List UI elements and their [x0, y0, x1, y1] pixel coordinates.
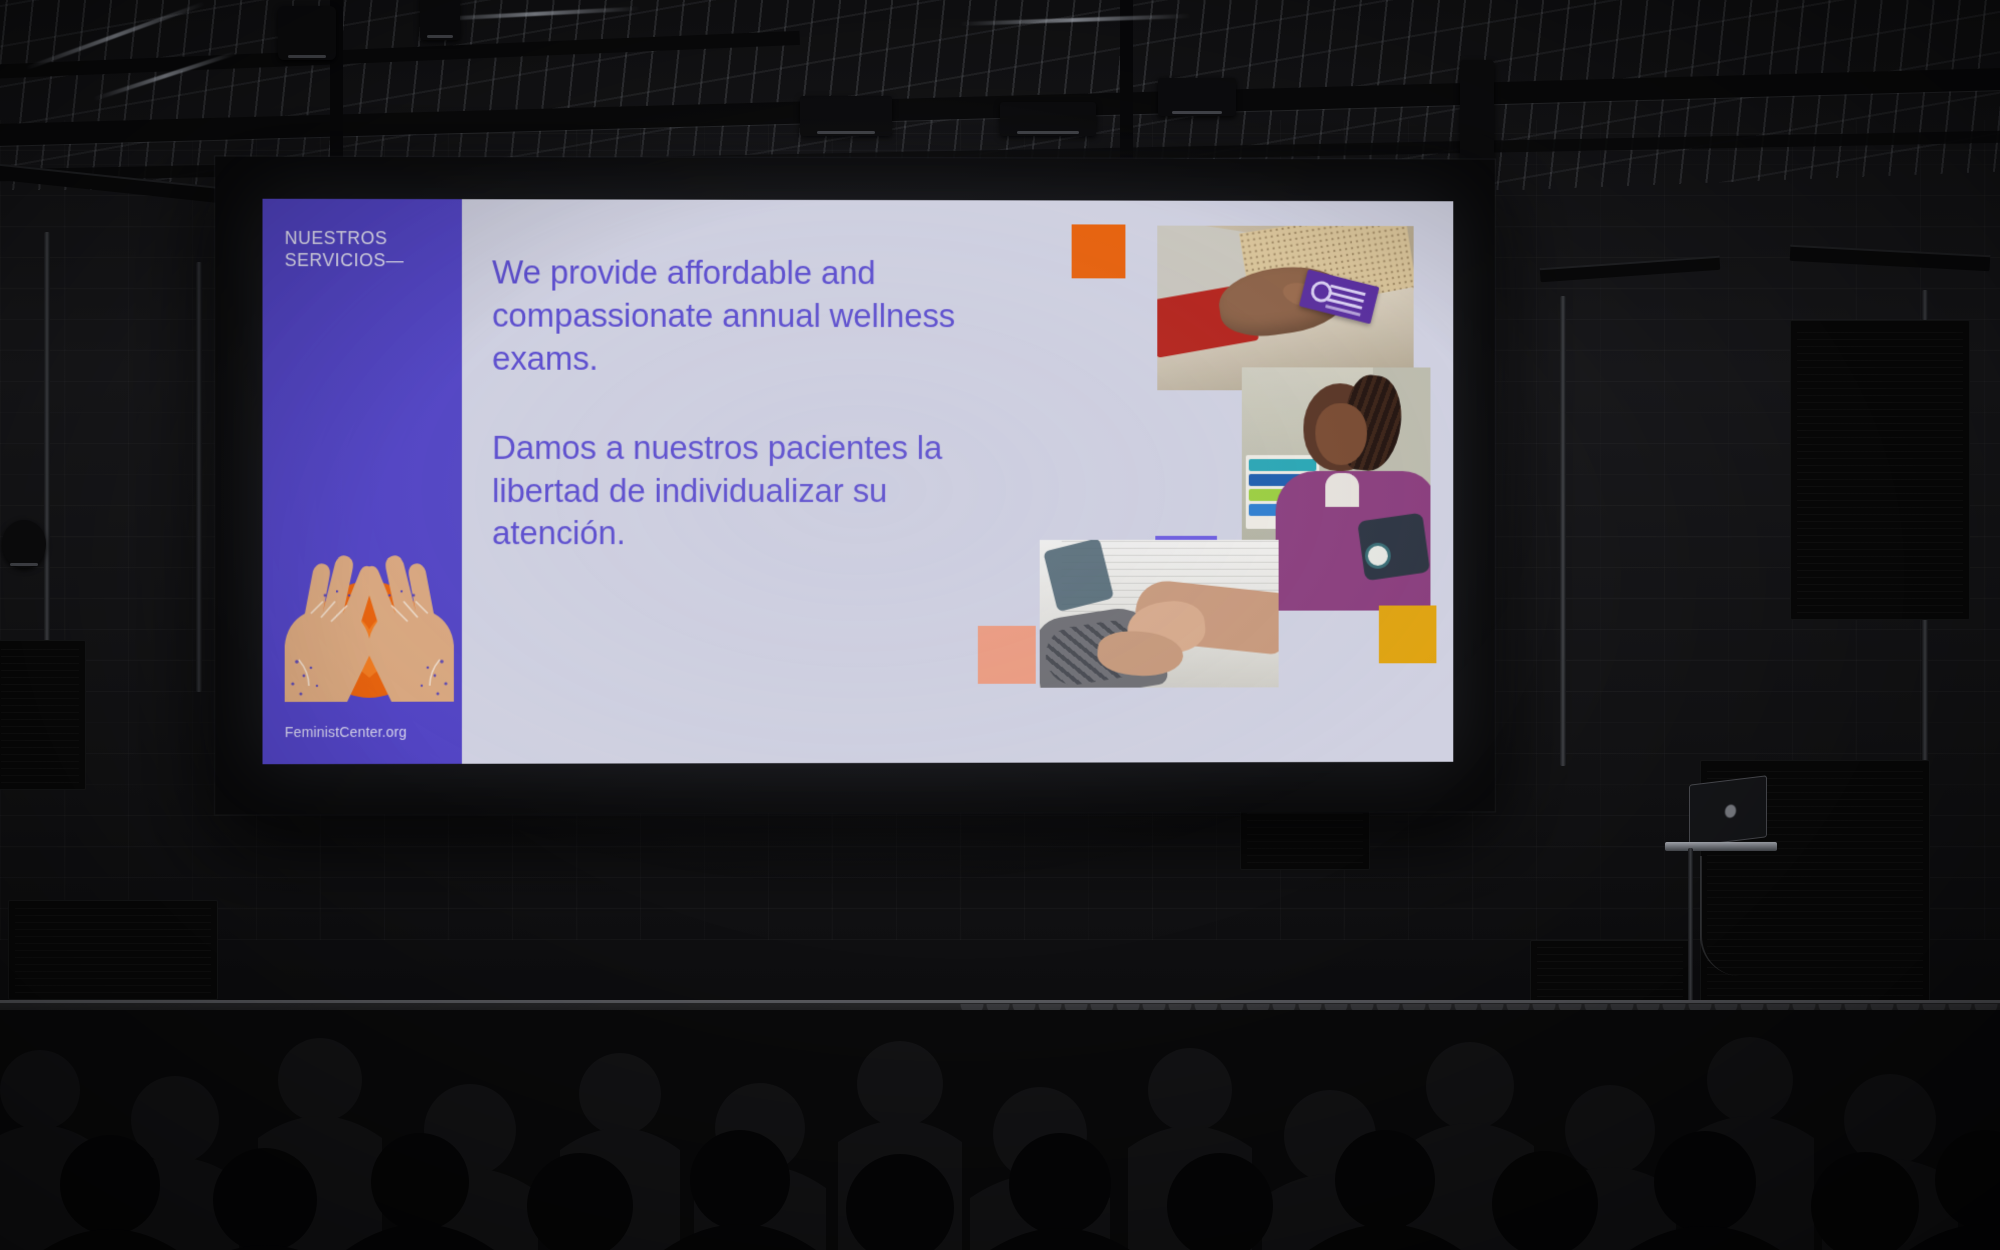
stage-light — [1000, 102, 1096, 136]
slide-canvas: NUESTROS SERVICIOS— — [263, 199, 1454, 764]
speaker-stack — [0, 640, 86, 790]
light-stand-pole — [44, 232, 50, 692]
orange-square — [1072, 224, 1126, 278]
laptop-stand-pole — [1688, 848, 1693, 1018]
venue-background: NUESTROS SERVICIOS— — [0, 0, 2000, 1250]
road-case — [8, 900, 218, 1000]
laptop-screen — [1689, 775, 1767, 847]
photo-hand-with-purple-card — [1157, 226, 1413, 391]
projection-screen: NUESTROS SERVICIOS— — [215, 156, 1495, 814]
stage-light — [2, 520, 46, 568]
light-stand-pole — [1560, 296, 1566, 766]
gold-square — [1379, 605, 1437, 663]
stage-light — [278, 6, 336, 60]
speaker-stack — [1790, 320, 1970, 620]
audience-silhouettes — [0, 1010, 2000, 1250]
hands-forming-heart-illustration — [277, 551, 462, 702]
stage-edge-highlight — [0, 1000, 2000, 1003]
laptop-table — [1665, 842, 1777, 851]
stage-light — [800, 96, 892, 136]
paragraph-spanish: Damos a nuestros pacientes la libertad d… — [492, 427, 973, 556]
slide-kicker: NUESTROS SERVICIOS— — [285, 227, 450, 272]
slide-body-copy: We provide affordable and compassionate … — [492, 251, 973, 555]
slide-url: FeministCenter.org — [285, 724, 407, 740]
slide-left-panel: NUESTROS SERVICIOS— — [263, 199, 462, 764]
light-stand-pole — [196, 262, 202, 692]
paragraph-english: We provide affordable and compassionate … — [492, 251, 973, 380]
stage-light — [420, 0, 460, 40]
stage-light — [1158, 78, 1236, 116]
cable — [1700, 856, 1780, 976]
slide-photo-collage — [1036, 200, 1454, 762]
salmon-square — [978, 626, 1036, 684]
photo-clasped-hands — [1040, 540, 1279, 688]
